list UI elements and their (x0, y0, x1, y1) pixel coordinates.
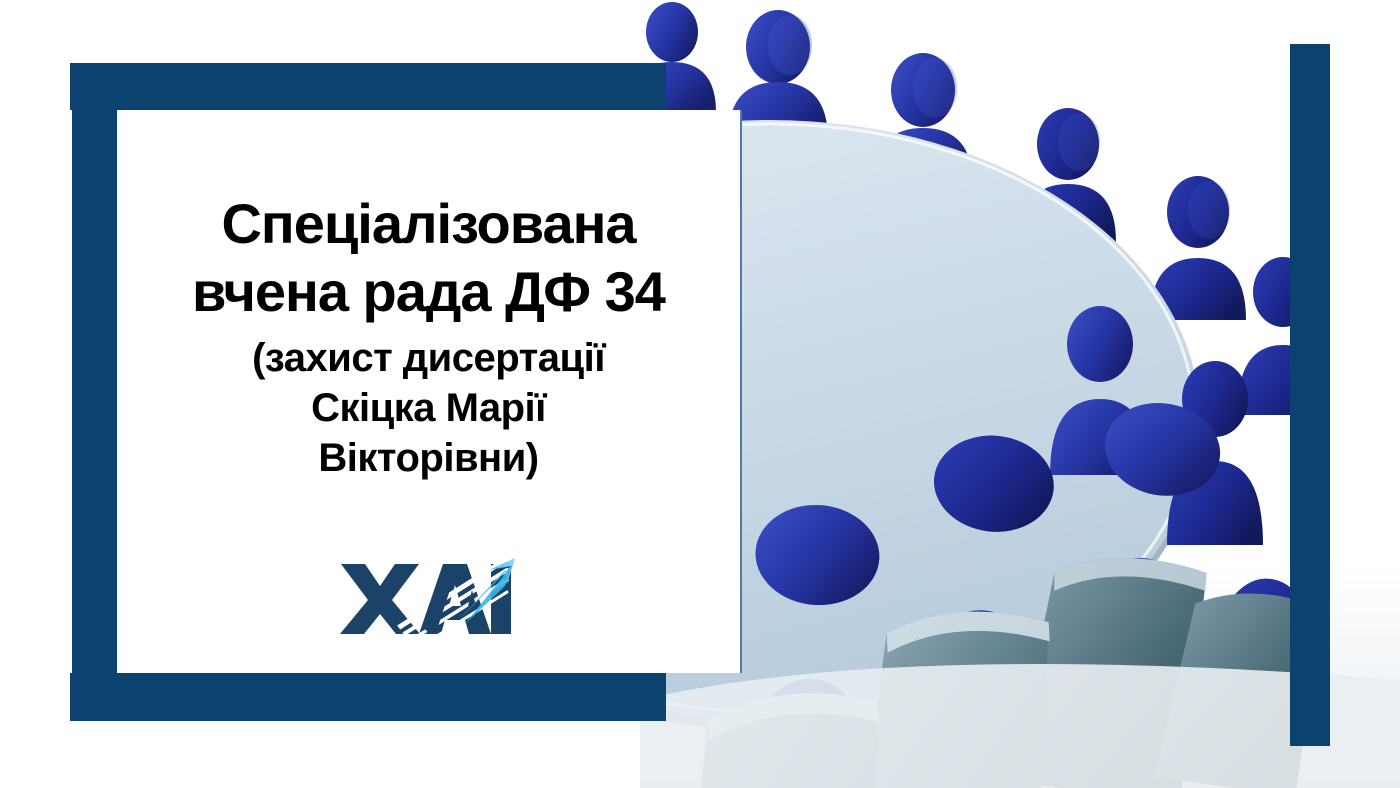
title-line-1: Спеціалізована (117, 190, 740, 258)
frame-bar-right-accent (1290, 44, 1330, 746)
page-title: Спеціалізована вчена рада ДФ 34 (117, 190, 740, 327)
conference-table-illustration (640, 0, 1400, 788)
khai-logo (339, 544, 519, 636)
subtitle-line-3: Вікторівни) (117, 433, 740, 483)
subtitle-line-1: (захист дисертації (117, 333, 740, 383)
title-line-2: вчена рада ДФ 34 (117, 258, 740, 326)
frame-bar-left (72, 63, 117, 721)
frame-bar-bottom (70, 673, 666, 721)
title-card: Спеціалізована вчена рада ДФ 34 (захист … (117, 110, 742, 673)
subtitle-line-2: Скіцка Марії (117, 383, 740, 433)
page-subtitle: (захист дисертації Скіцка Марії Вікторів… (117, 333, 740, 484)
poster-canvas: Спеціалізована вчена рада ДФ 34 (захист … (0, 0, 1400, 788)
frame-bar-top (70, 63, 666, 110)
